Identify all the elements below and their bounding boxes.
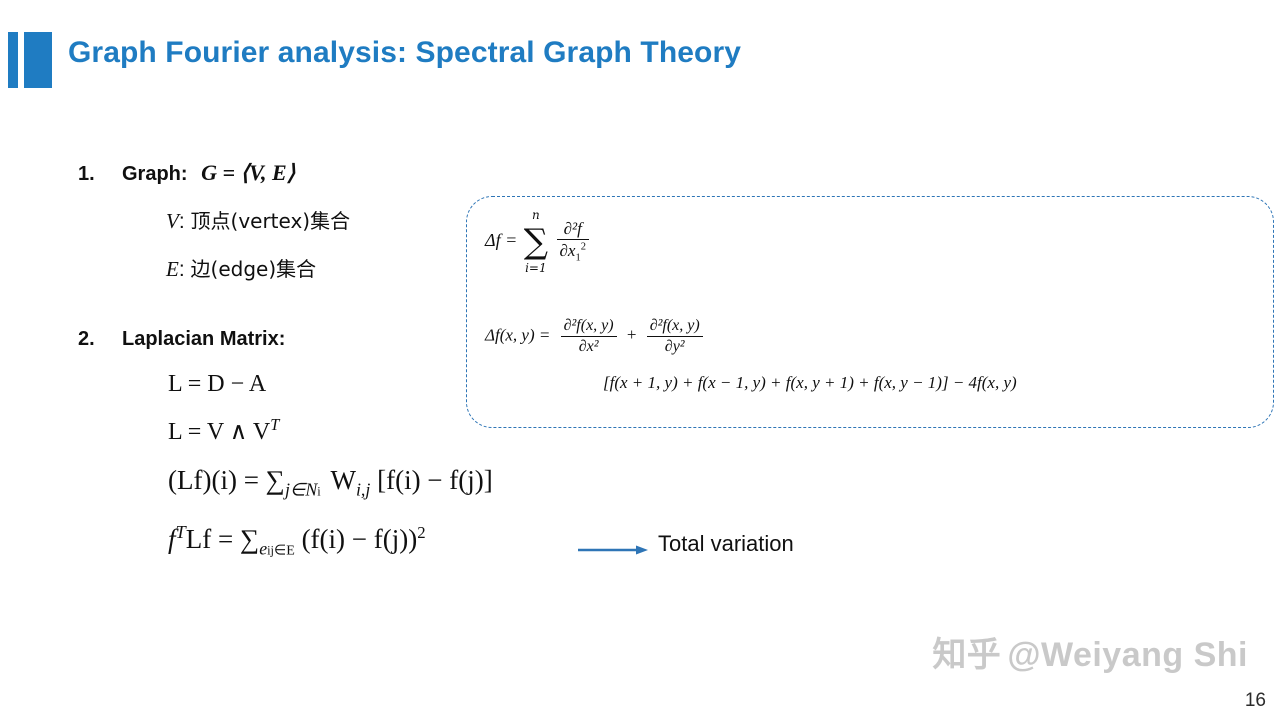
equation-laplacian-2-superscript: T <box>270 415 279 434</box>
watermark-logo: 知乎 <box>932 635 1001 675</box>
definition-vertex-colon: : <box>179 210 185 233</box>
equation-lf-i-subscript-2: i <box>317 484 320 498</box>
definition-vertex: V: 顶点(vertex)集合 <box>166 205 350 234</box>
formula-line-1-numerator: ∂²f <box>557 219 589 240</box>
right-arrow-icon <box>578 544 648 556</box>
formula-line-2-plus: + <box>627 325 637 344</box>
definition-vertex-text: 顶点(vertex)集合 <box>191 209 351 233</box>
definition-edge-colon: : <box>179 258 185 281</box>
equation-laplacian-1: L = D − A <box>168 371 266 398</box>
equation-ftlf-subscript: e <box>259 538 267 558</box>
definition-vertex-symbol: V <box>166 209 179 233</box>
formula-line-2-fraction-2-denominator: ∂y² <box>647 337 703 356</box>
equation-ftlf-mid: Lf = ∑ <box>186 524 259 554</box>
formula-line-1-denominator: ∂x12 <box>557 240 589 264</box>
formula-line-2-fraction-2: ∂²f(x, y) ∂y² <box>647 317 703 356</box>
equation-ftlf-lead-superscript: T <box>176 522 186 542</box>
formula-line-1: Δf = ∑ni=1 ∂²f ∂x12 <box>485 219 591 264</box>
list-item-2-number: 2. <box>78 328 122 351</box>
equation-lf-i: (Lf)(i) = ∑j∈Ni Wi,j [f(i) − f(j)] <box>168 465 493 500</box>
watermark: 知乎@Weiyang Shi <box>932 627 1248 676</box>
summation-symbol: ∑ni=1 <box>524 225 548 259</box>
equation-ftlf: fTLf = ∑eij∈E (f(i) − f(j))2 <box>168 522 426 559</box>
list-item-2: 2.Laplacian Matrix: <box>78 328 285 351</box>
formula-line-2-fraction-1: ∂²f(x, y) ∂x² <box>561 317 617 356</box>
equation-lf-i-w: W <box>331 465 356 495</box>
list-item-1: 1.Graph: G = ⟨V, E⟩ <box>78 160 295 186</box>
formula-line-1-lhs: Δf = <box>485 230 517 250</box>
formula-box: Δf = ∑ni=1 ∂²f ∂x12 Δf(x, y) = ∂²f(x, y)… <box>466 196 1274 428</box>
title-accent-bar-outer <box>8 32 18 88</box>
formula-line-1-denominator-sub: 1 <box>575 252 580 263</box>
formula-line-3: [f(x + 1, y) + f(x − 1, y) + f(x, y + 1)… <box>603 373 1017 393</box>
page-title: Graph Fourier analysis: Spectral Graph T… <box>68 36 741 70</box>
equation-lf-i-subscript: j∈N <box>285 479 317 499</box>
formula-line-2-fraction-1-numerator: ∂²f(x, y) <box>561 317 617 337</box>
formula-line-1-denominator-sup: 2 <box>581 241 586 252</box>
list-item-1-label: Graph: <box>122 163 188 185</box>
formula-line-2: Δf(x, y) = ∂²f(x, y) ∂x² + ∂²f(x, y) ∂y² <box>485 317 705 356</box>
formula-line-1-denominator-main: ∂x <box>560 241 576 260</box>
equation-ftlf-subscript-3: ∈E <box>274 542 295 558</box>
equation-lf-i-lead: (Lf)(i) = ∑ <box>168 465 285 495</box>
equation-ftlf-tail: (f(i) − f(j)) <box>302 524 418 554</box>
total-variation-label: Total variation <box>658 531 794 557</box>
definition-edge-text: 边(edge)集合 <box>191 257 317 281</box>
summation-upper-limit: n <box>532 209 540 221</box>
list-item-2-label: Laplacian Matrix: <box>122 328 285 350</box>
page-number: 16 <box>1245 690 1266 712</box>
list-item-1-number: 1. <box>78 163 122 186</box>
definition-edge: E: 边(edge)集合 <box>166 253 316 282</box>
formula-line-1-fraction: ∂²f ∂x12 <box>557 219 589 264</box>
equation-ftlf-subscript-2: ij <box>267 543 274 557</box>
equation-laplacian-2-main: L = V ∧ V <box>168 419 270 445</box>
equation-lf-i-tail: [f(i) − f(j)] <box>377 465 493 495</box>
formula-line-2-fraction-2-numerator: ∂²f(x, y) <box>647 317 703 337</box>
definition-edge-symbol: E <box>166 257 179 281</box>
slide-title-bar: Graph Fourier analysis: Spectral Graph T… <box>0 30 1280 92</box>
formula-line-2-fraction-1-denominator: ∂x² <box>561 337 617 356</box>
equation-laplacian-2: L = V ∧ VT <box>168 415 279 446</box>
equation-ftlf-lead: f <box>168 524 176 554</box>
equation-lf-i-w-subscript: i,j <box>356 479 370 499</box>
list-item-1-expression: G = ⟨V, E⟩ <box>201 160 295 185</box>
summation-lower-limit: i=1 <box>525 262 547 274</box>
formula-line-2-lhs: Δf(x, y) = <box>485 325 550 344</box>
title-accent-bar-inner <box>24 32 52 88</box>
equation-ftlf-superscript-2: 2 <box>417 523 425 542</box>
watermark-handle: @Weiyang Shi <box>1007 636 1248 674</box>
